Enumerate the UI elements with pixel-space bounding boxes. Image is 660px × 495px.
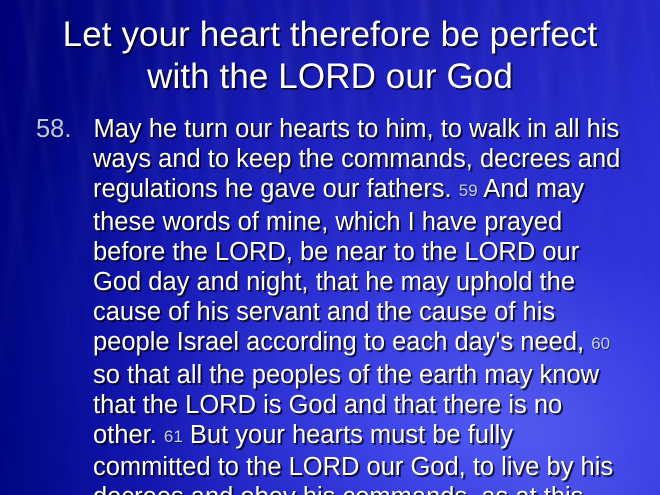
presentation-slide: Let your heart therefore be perfect with…: [0, 0, 660, 495]
slide-body: 58.May he turn our hearts to him, to wal…: [36, 114, 632, 495]
bullet-item: 58.May he turn our hearts to him, to wal…: [36, 114, 632, 495]
bullet-marker: 58.: [36, 115, 71, 143]
slide-title: Let your heart therefore be perfect with…: [14, 14, 646, 98]
verse-number-59: 59: [459, 181, 478, 200]
verse-number-60: 60: [591, 334, 610, 353]
verse-number-61: 61: [164, 427, 183, 446]
